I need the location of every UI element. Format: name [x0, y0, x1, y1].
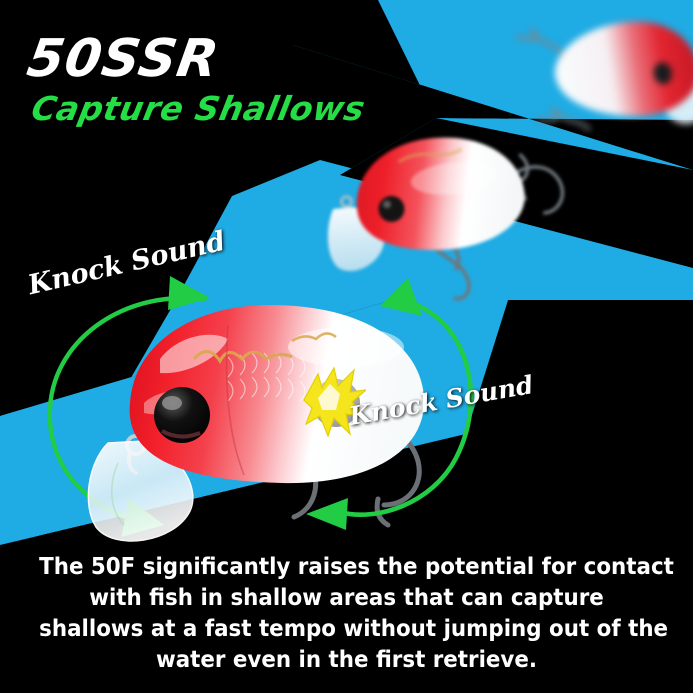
caption-block: The 50F significantly raises the potenti…	[24, 552, 668, 676]
caption-line-1: The 50F significantly raises the potenti…	[39, 552, 654, 583]
rotation-arrow-right-head-bottom	[306, 498, 348, 530]
line-tie-ring	[341, 196, 352, 207]
rotation-arrow-right-head-top	[380, 278, 422, 316]
title-block: 50SSR Capture Shallows	[28, 33, 364, 127]
page-title: 50SSR	[24, 33, 369, 85]
caption-line-3: shallows at a fast tempo without jumping…	[39, 614, 654, 645]
caption-line-4: water even in the first retrieve.	[39, 645, 654, 676]
caption-line-2: with fish in shallow areas that can capt…	[39, 583, 654, 614]
advertisement-banner: 50SSR Capture Shallows	[0, 0, 693, 693]
product-tagline: Capture Shallows	[29, 91, 368, 127]
